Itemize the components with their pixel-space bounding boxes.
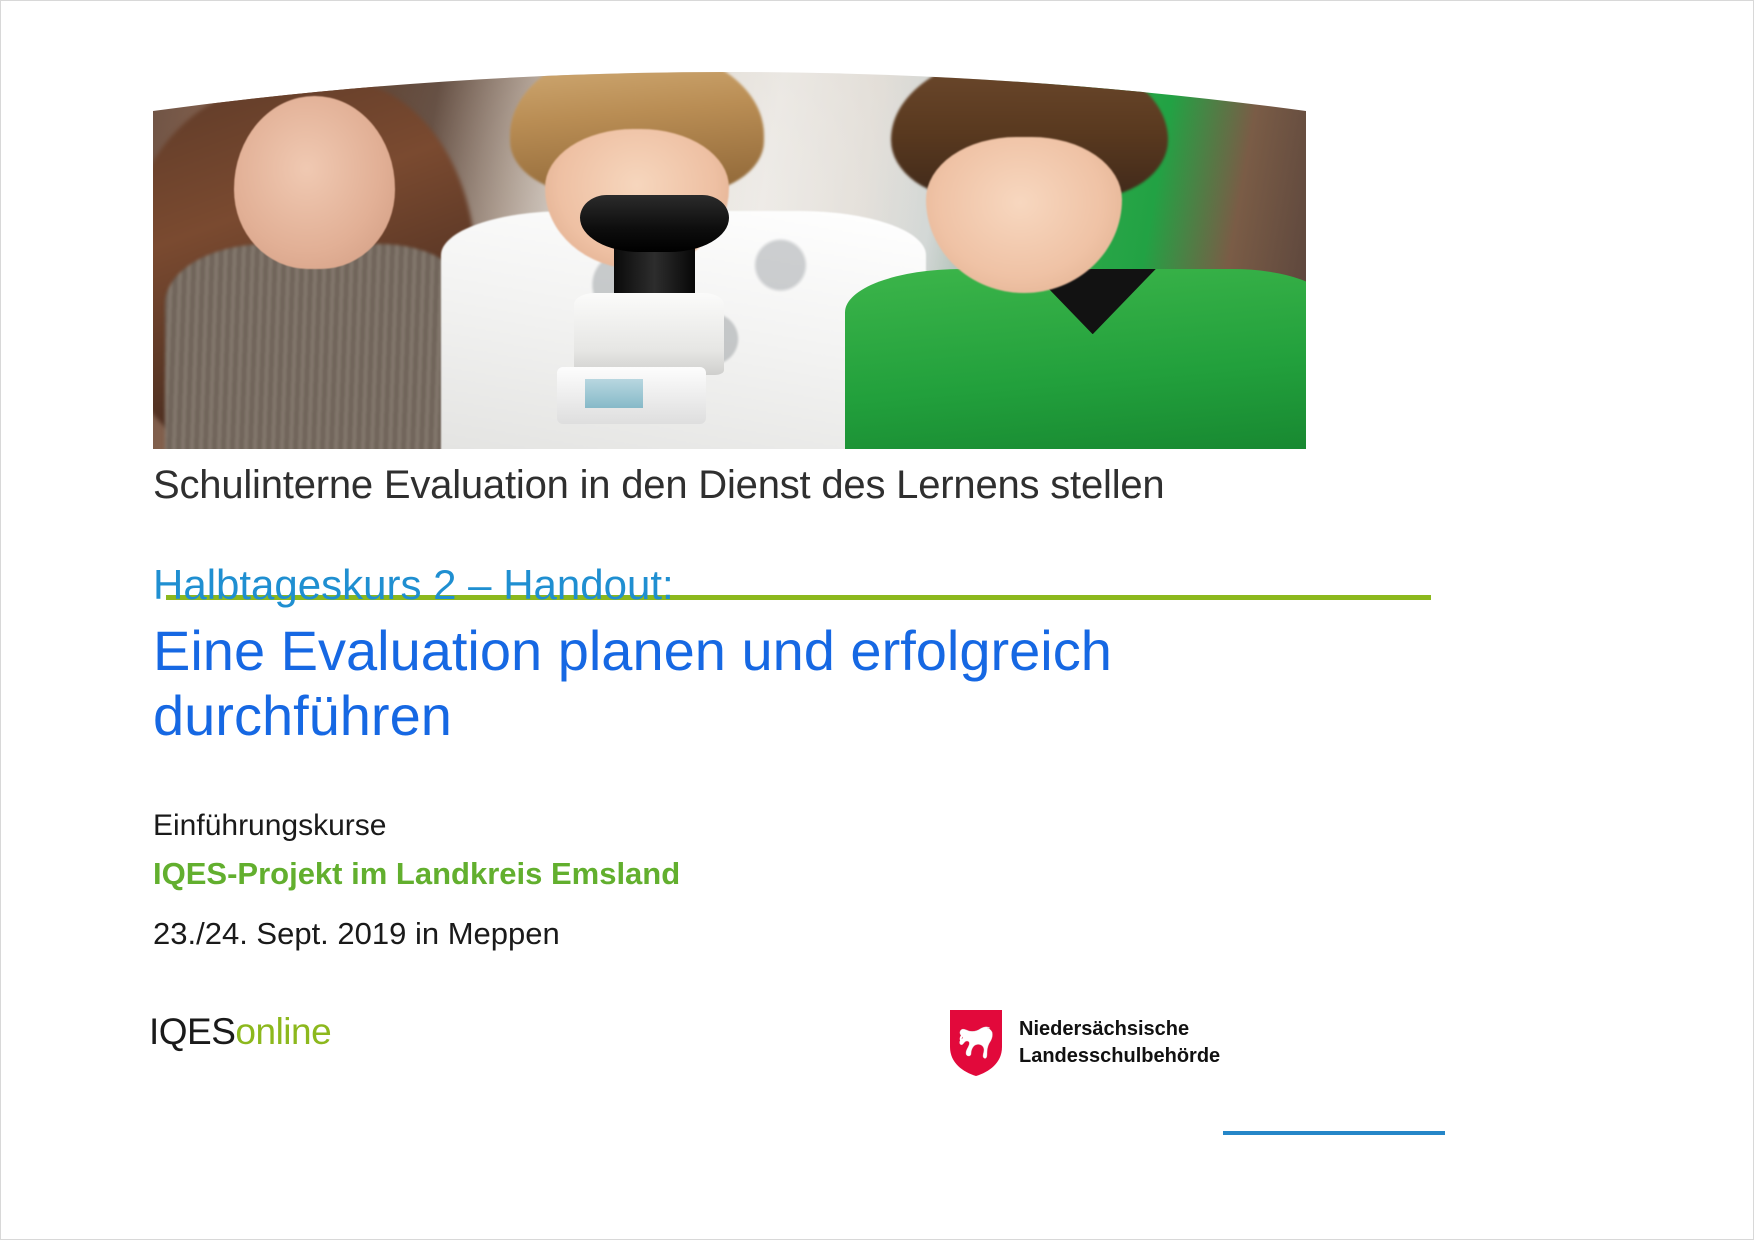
hero-arch-mask <box>153 39 1306 449</box>
iqes-wordmark: IQES <box>149 1011 235 1052</box>
page-title: Eine Evaluation planen und erfolgreich d… <box>153 619 1333 749</box>
hero-banner-image <box>153 39 1306 449</box>
microscope-body <box>574 293 724 375</box>
lower-saxony-shield-icon <box>949 1009 1003 1077</box>
hero-photo-background <box>153 39 1306 449</box>
subtitle-course-type: Einführungskurse <box>153 809 386 843</box>
nlsb-wordmark: Niedersächsische Landesschulbehörde <box>1019 1016 1220 1070</box>
microscope-specimen-slide <box>585 379 643 408</box>
iqes-online-wordmark: online <box>235 1011 331 1052</box>
microscope-eyepiece <box>580 195 730 252</box>
niedersachsen-landesschulbehoerde-logo: Niedersächsische Landesschulbehörde <box>949 1009 1220 1077</box>
subtitle-date-location: 23./24. Sept. 2019 in Meppen <box>153 916 560 952</box>
nlsb-line-1: Niedersächsische <box>1019 1016 1220 1043</box>
photo-teacher-cardigan <box>165 244 465 449</box>
slide-canvas: Schulinterne Evaluation in den Dienst de… <box>0 0 1754 1240</box>
blue-accent-rule <box>1223 1131 1445 1135</box>
course-kicker: Halbtageskurs 2 – Handout: <box>153 561 674 609</box>
iqes-online-logo: IQESonline <box>149 1011 331 1053</box>
photo-teacher-face <box>234 96 395 268</box>
nlsb-line-2: Landesschulbehörde <box>1019 1043 1220 1070</box>
banner-heading: Schulinterne Evaluation in den Dienst de… <box>153 463 1453 508</box>
subtitle-project-name: IQES-Projekt im Landkreis Emsland <box>153 856 680 892</box>
